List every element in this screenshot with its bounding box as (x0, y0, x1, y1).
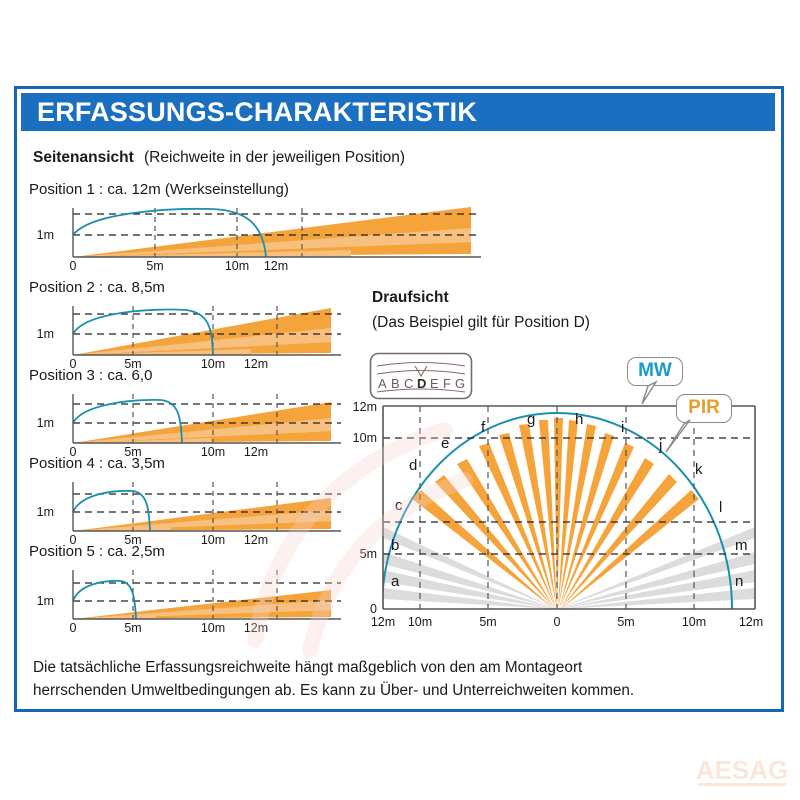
callout-mw[interactable]: MW (627, 357, 683, 386)
position-5-label: Position 5 : ca. 2,5m (29, 543, 165, 560)
zone-label-f: f (481, 419, 486, 436)
zone-label-l: l (719, 499, 722, 516)
beam-inactive-group (557, 527, 755, 609)
y-tick-label: 1m (37, 416, 54, 430)
y-tick-label: 1m (37, 505, 54, 519)
x-tick-label: 5m (479, 615, 496, 629)
x-tick-label: 12m (244, 357, 268, 371)
x-tick-label: 12m (244, 621, 268, 635)
zone-label-a: a (391, 573, 400, 590)
y-tick-label: 1m (37, 228, 54, 242)
x-tick-label: 5m (146, 259, 163, 273)
x-tick-label: 10m (201, 533, 225, 547)
x-tick-label: 10m (201, 445, 225, 459)
side-view-heading-note: (Reichweite in der jeweiligen Position) (144, 149, 405, 167)
top-view-subheading: (Das Beispiel gilt für Position D) (372, 314, 590, 332)
zone-label-h: h (575, 411, 583, 428)
y-tick-label: 10m (353, 431, 377, 445)
x-tick-label: 12m (371, 615, 395, 629)
beam-fan (383, 418, 755, 609)
chart-position-5: 1m 0 5m 10m 12m (51, 564, 351, 629)
lens-letter-e: E (430, 376, 439, 391)
lens-letter-b: B (391, 376, 400, 391)
x-tick-label: 10m (408, 615, 432, 629)
x-tick-label: 10m (225, 259, 249, 273)
lens-letter-g: G (455, 376, 465, 391)
footer-line-1: Die tatsächliche Erfassungsreichweite hä… (33, 656, 582, 679)
zone-label-e: e (441, 435, 449, 452)
y-tick-label: 1m (37, 327, 54, 341)
position-1-label: Position 1 : ca. 12m (Werkseinstellung) (29, 181, 289, 198)
x-tick-label: 12m (244, 445, 268, 459)
chart-position-3: 1m 0 5m 10m 12m (51, 388, 351, 453)
page-title: ERFASSUNGS-CHARAKTERISTIK (37, 97, 477, 128)
x-tick-label: 0 (554, 615, 561, 629)
zone-label-i: i (621, 419, 624, 436)
chart-position-4: 1m 0 5m 10m 12m (51, 476, 351, 541)
lens-letter-c: C (404, 376, 413, 391)
top-view-plot: 0 5m 10m 12m 12m 10m 5m 0 5m 10m 12m a b… (347, 402, 767, 617)
lens-letter-a: A (378, 376, 387, 391)
zone-label-n: n (735, 573, 743, 590)
position-2-label: Position 2 : ca. 8,5m (29, 279, 165, 296)
chart-position-1: 1m 0 5m 10m 12m (51, 202, 491, 267)
position-4-label: Position 4 : ca. 3,5m (29, 455, 165, 472)
y-tick-label: 12m (353, 400, 377, 414)
x-tick-label: 5m (124, 621, 141, 635)
watermark-logo: AESAG (690, 752, 794, 792)
footer-line-2: herrschenden Umweltbedingungen ab. Es ka… (33, 679, 634, 702)
x-tick-label: 10m (201, 621, 225, 635)
x-tick-label: 12m (244, 533, 268, 547)
beam-group (73, 590, 331, 619)
top-view-heading: Draufsicht (372, 289, 449, 307)
zone-label-g: g (527, 411, 535, 428)
beam-group (73, 498, 331, 531)
zone-label-k: k (695, 461, 703, 478)
zone-label-d: d (409, 457, 417, 474)
y-tick-label: 0 (370, 602, 377, 616)
chart-position-2: 1m 0 5m 10m 12m (51, 300, 351, 365)
x-tick-label: 5m (617, 615, 634, 629)
position-3-label: Position 3 : ca. 6,0 (29, 367, 152, 384)
zone-label-m: m (735, 537, 748, 554)
x-tick-label: 0 (70, 259, 77, 273)
x-tick-label: 12m (739, 615, 763, 629)
zone-label-c: c (395, 497, 403, 514)
x-tick-label: 12m (264, 259, 288, 273)
x-tick-label: 0 (70, 621, 77, 635)
y-tick-label: 5m (360, 547, 377, 561)
logo-text: AESAG (696, 755, 788, 785)
zone-label-b: b (391, 537, 399, 554)
header-bar: ERFASSUNGS-CHARAKTERISTIK (21, 93, 775, 131)
side-view-heading: Seitenansicht (33, 149, 134, 167)
y-tick-label: 1m (37, 594, 54, 608)
zone-label-j: j (658, 437, 662, 454)
callout-pir[interactable]: PIR (676, 394, 732, 423)
sensor-lens-inset: A B C D E F G (369, 352, 473, 400)
lens-letter-f: F (443, 376, 451, 391)
x-tick-label: 10m (201, 357, 225, 371)
lens-letter-d-selected: D (417, 376, 426, 391)
x-tick-label: 10m (682, 615, 706, 629)
